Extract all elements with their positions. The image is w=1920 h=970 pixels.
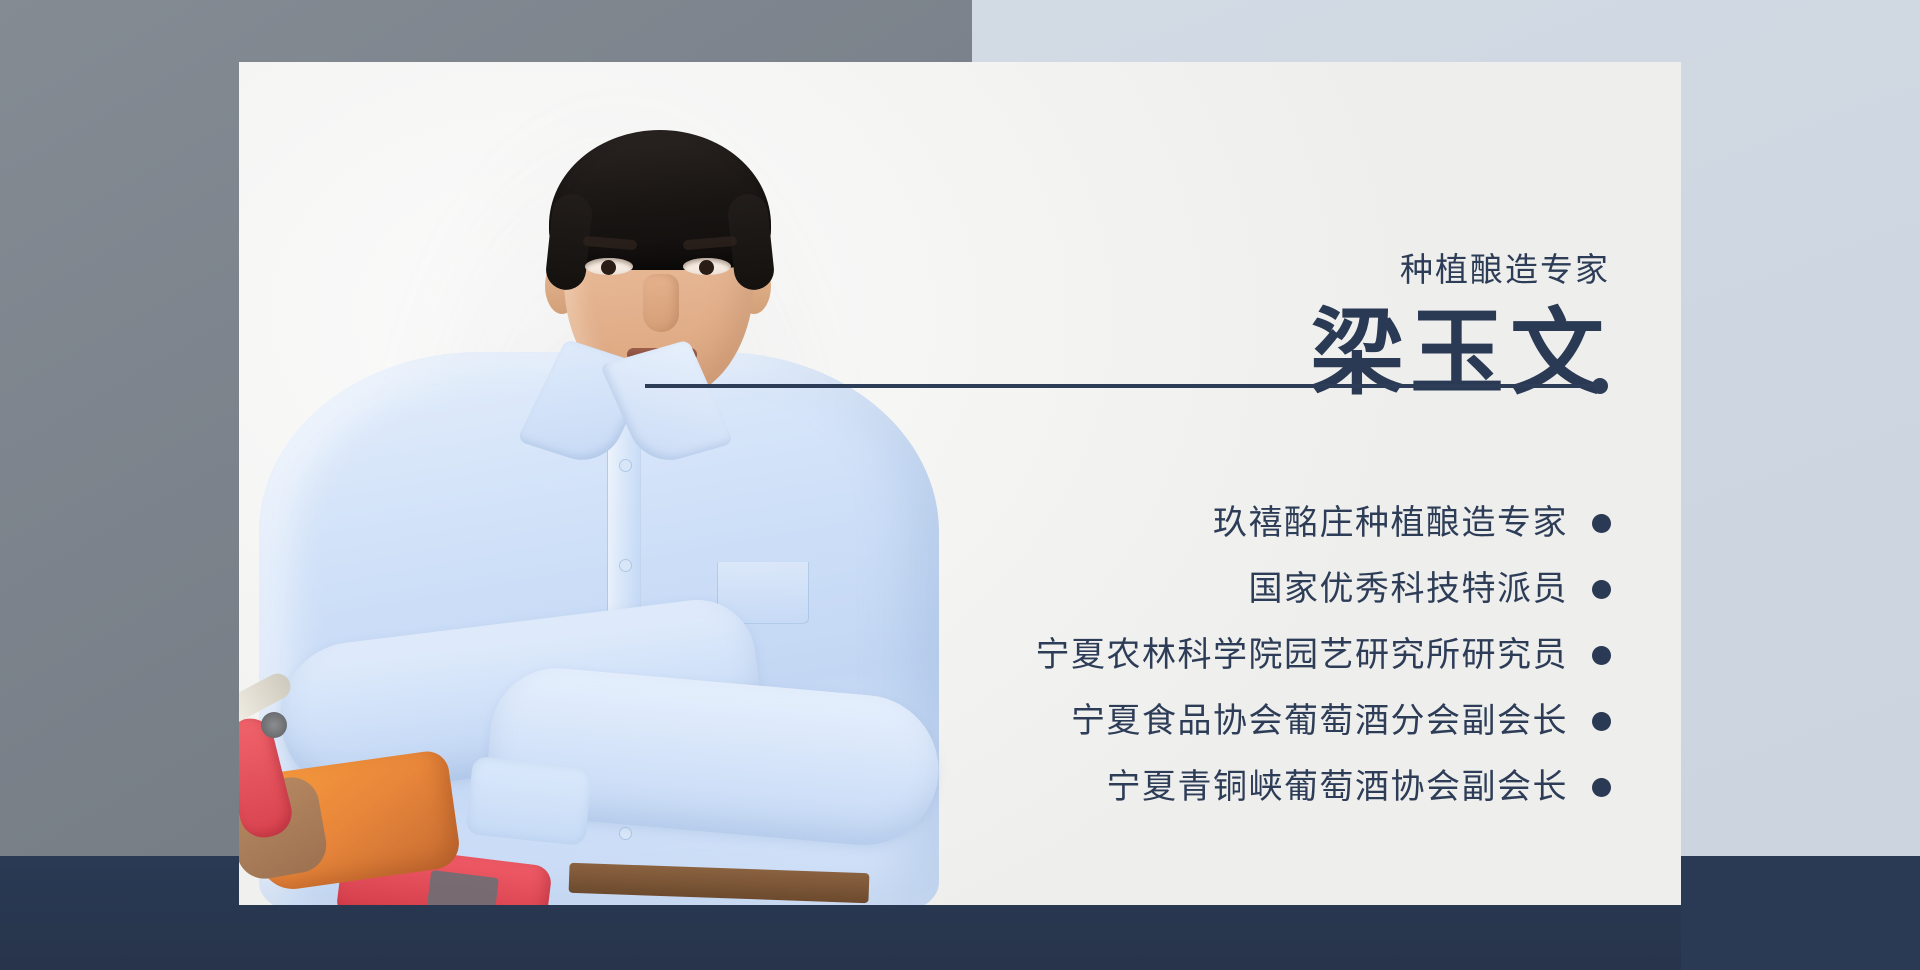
bullet-dot-icon [1592,712,1611,731]
shirt-button [620,828,631,839]
expert-subtitle: 种植酿造专家 [239,250,1610,290]
bullet-dot-icon [1592,514,1611,533]
profile-card: 种植酿造专家 梁玉文 玖禧酩庄种植酿造专家 国家优秀科技特派员 宁夏农林科学院园… [239,62,1681,905]
credential-text: 宁夏农林科学院园艺研究所研究员 [1036,633,1569,677]
bullet-dot-icon [1592,580,1611,599]
profile-banner: 种植酿造专家 梁玉文 玖禧酩庄种植酿造专家 国家优秀科技特派员 宁夏农林科学院园… [0,0,1920,970]
list-item: 玖禧酩庄种植酿造专家 [239,490,1611,556]
credential-text: 宁夏青铜峡葡萄酒协会副会长 [1107,765,1569,809]
bullet-dot-icon [1592,778,1611,797]
list-item: 宁夏农林科学院园艺研究所研究员 [239,622,1611,688]
credential-text: 国家优秀科技特派员 [1249,567,1569,611]
divider-line [645,384,1600,388]
expert-name: 梁玉文 [239,298,1610,410]
background-navy-strip-right [1681,856,1920,970]
list-item: 宁夏青铜峡葡萄酒协会副会长 [239,754,1611,820]
divider-end-dot [1592,378,1608,394]
credentials-list: 玖禧酩庄种植酿造专家 国家优秀科技特派员 宁夏农林科学院园艺研究所研究员 宁夏食… [239,490,1611,820]
credential-text: 玖禧酩庄种植酿造专家 [1213,501,1568,545]
list-item: 国家优秀科技特派员 [239,556,1611,622]
list-item: 宁夏食品协会葡萄酒分会副会长 [239,688,1611,754]
shirt-button [620,460,631,471]
bullet-dot-icon [1592,646,1611,665]
credential-text: 宁夏食品协会葡萄酒分会副会长 [1071,699,1568,743]
